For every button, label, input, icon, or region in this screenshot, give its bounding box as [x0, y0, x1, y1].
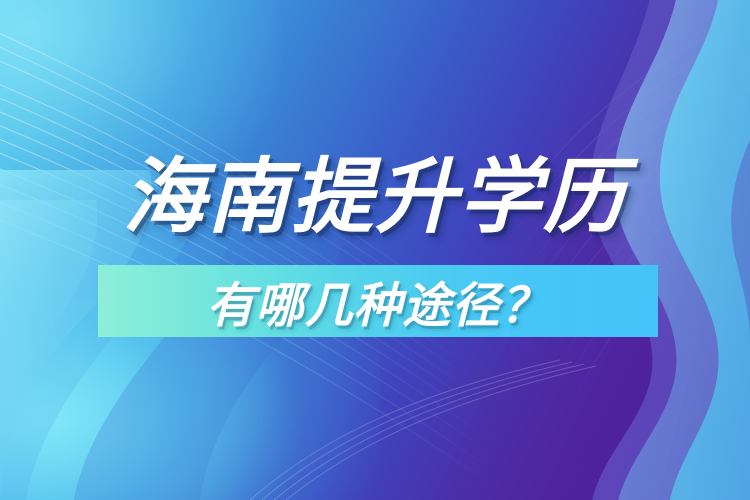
- subtitle-text: 有哪几种途径？: [98, 265, 658, 337]
- promo-banner: 海南提升学历 有哪几种途径？: [0, 0, 750, 500]
- text-content: 海南提升学历 有哪几种途径？: [0, 0, 750, 500]
- headline-title: 海南提升学历: [0, 148, 750, 248]
